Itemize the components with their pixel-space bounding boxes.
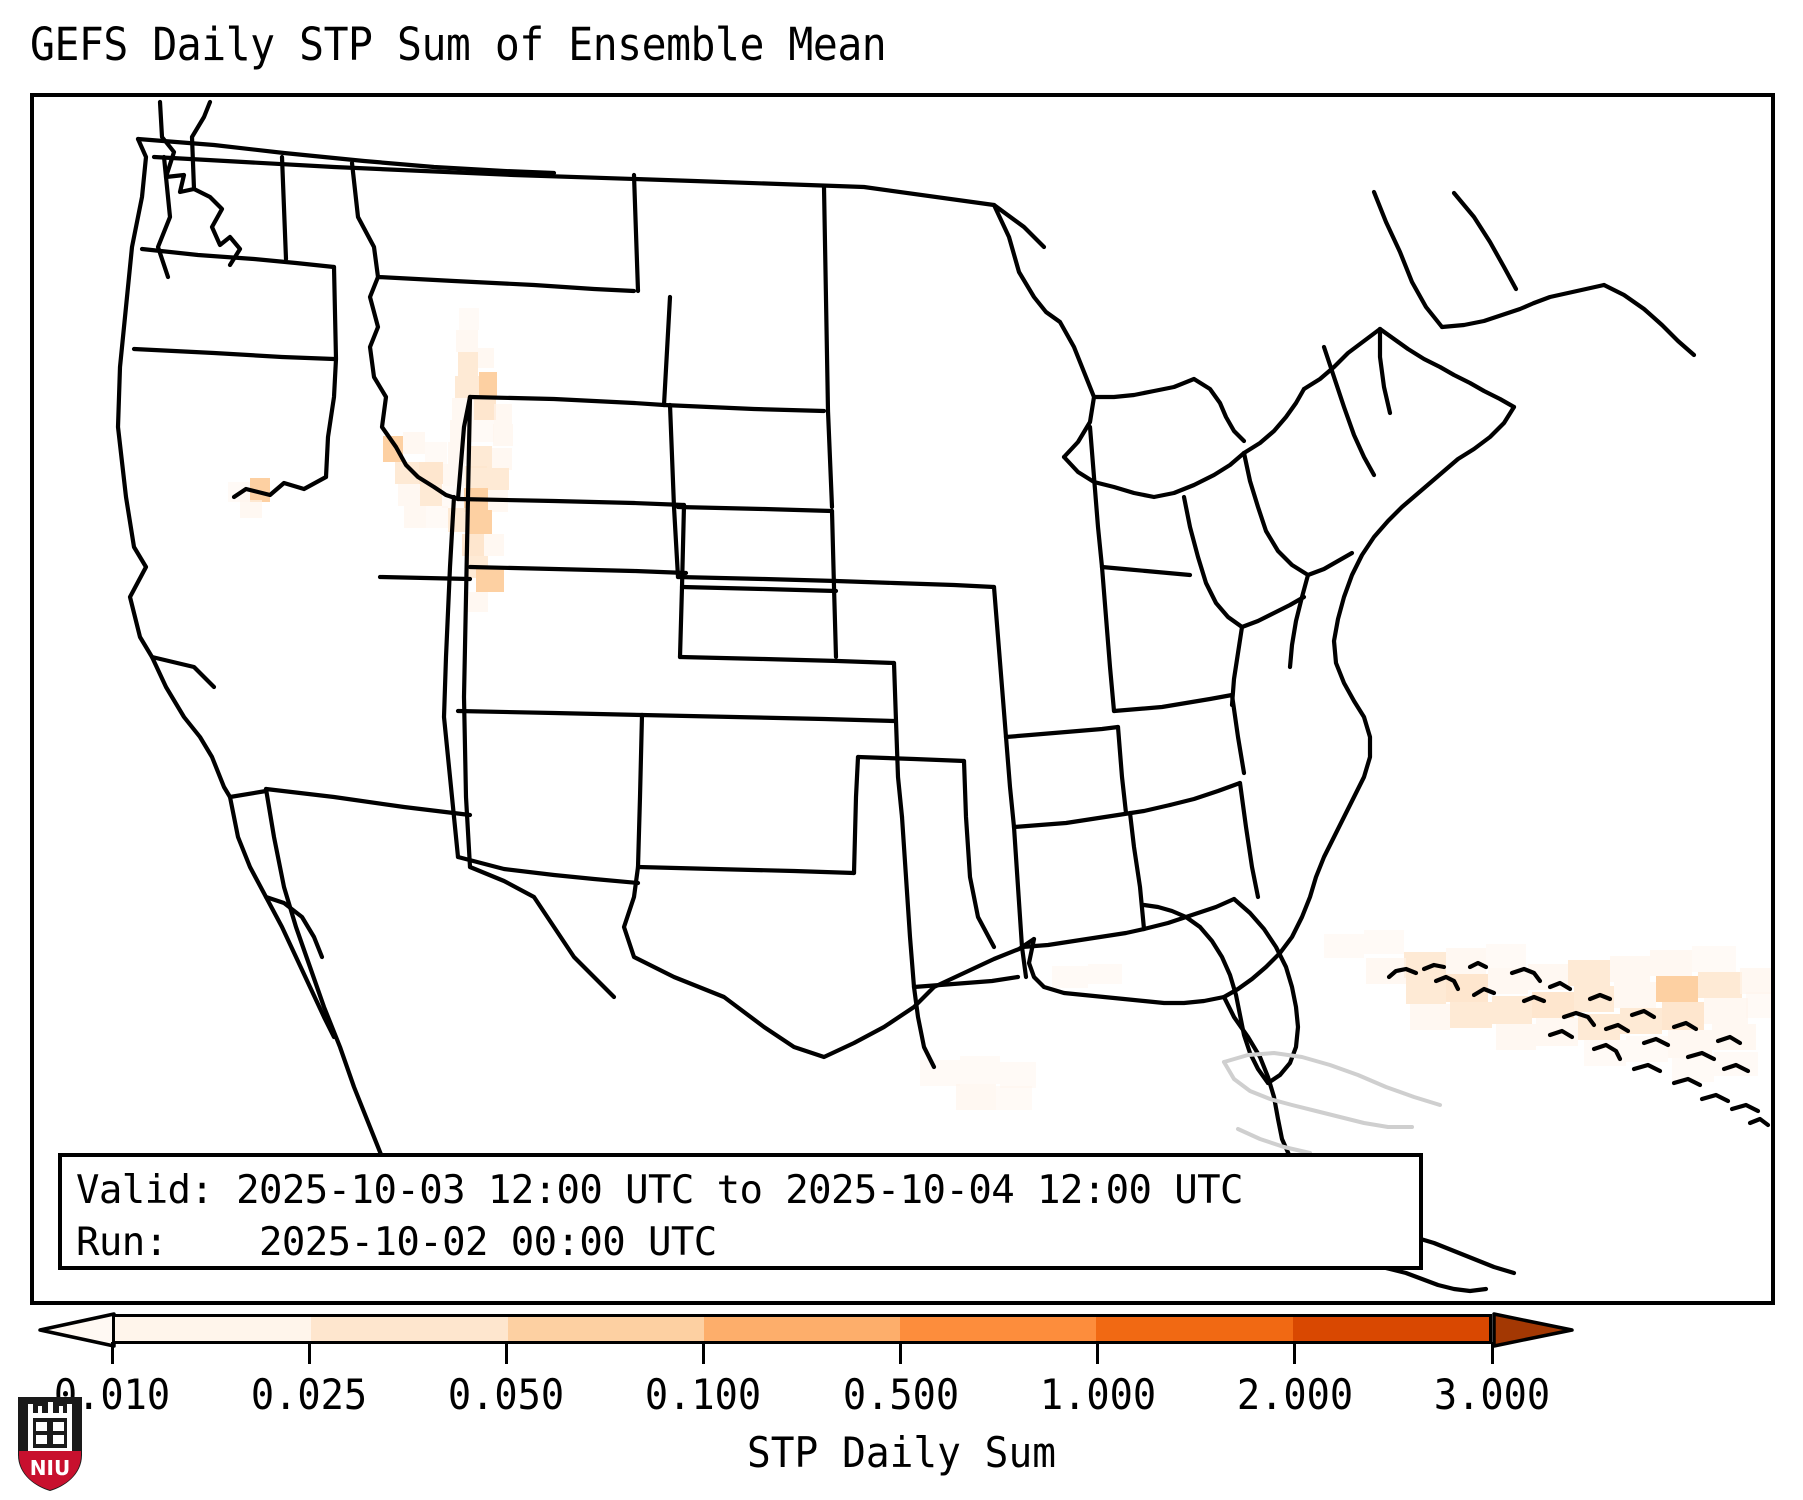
colorbar-tick-label-1: 0.025 <box>251 1370 367 1419</box>
colorbar-tick-5 <box>1096 1342 1099 1364</box>
colorbar-tick-1 <box>308 1342 311 1364</box>
colorbar-tick-label-7: 3.000 <box>1434 1370 1550 1419</box>
run-time-text: Run: 2025-10-02 00:00 UTC <box>76 1217 1405 1269</box>
colorbar-tick-2 <box>505 1342 508 1364</box>
colorbar-segment-0 <box>115 1317 311 1341</box>
colorbar-tickmarks <box>0 1342 1803 1368</box>
colorbar-segment-3 <box>704 1317 900 1341</box>
map-boundaries-svg <box>34 97 1771 1301</box>
coastline-and-borders <box>118 102 1768 1291</box>
colorbar-tick-label-3: 0.100 <box>645 1370 761 1419</box>
page-title: GEFS Daily STP Sum of Ensemble Mean <box>30 18 886 71</box>
colorbar-tick-4 <box>899 1342 902 1364</box>
colorbar-tick-6 <box>1293 1342 1296 1364</box>
colorbar-segment-4 <box>900 1317 1096 1341</box>
colorbar-tick-3 <box>702 1342 705 1364</box>
niu-logo: NIU <box>14 1393 86 1493</box>
valid-time-text: Valid: 2025-10-03 12:00 UTC to 2025-10-0… <box>76 1165 1405 1217</box>
niu-logo-text: NIU <box>30 1456 70 1480</box>
forecast-info-box: Valid: 2025-10-03 12:00 UTC to 2025-10-0… <box>58 1153 1423 1270</box>
colorbar-tick-0 <box>111 1342 114 1364</box>
colorbar-tick-label-2: 0.050 <box>448 1370 564 1419</box>
colorbar-tick-label-5: 1.000 <box>1040 1370 1156 1419</box>
colorbar-gradient[interactable] <box>112 1314 1492 1344</box>
map-panel[interactable] <box>30 93 1775 1305</box>
colorbar-segment-6 <box>1293 1317 1489 1341</box>
colorbar-segment-5 <box>1096 1317 1292 1341</box>
colorbar-tick-labels: 0.0100.0250.0500.1000.5001.0002.0003.000 <box>0 1370 1803 1424</box>
colorbar-tick-7 <box>1491 1342 1494 1364</box>
colorbar-axis-label: STP Daily Sum <box>54 1428 1749 1477</box>
colorbar-segment-1 <box>311 1317 507 1341</box>
colorbar-segment-2 <box>508 1317 704 1341</box>
colorbar-tick-label-4: 0.500 <box>842 1370 958 1419</box>
colorbar-tick-label-6: 2.000 <box>1237 1370 1353 1419</box>
map-canvas <box>34 97 1771 1301</box>
